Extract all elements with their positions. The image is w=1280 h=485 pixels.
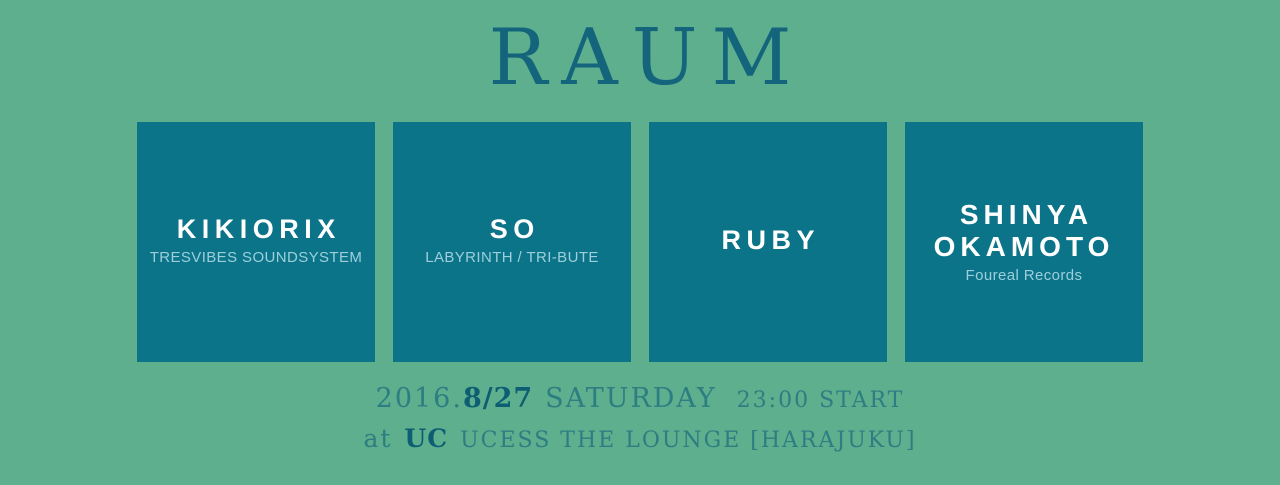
artist-affiliation: TRESVIBES SOUNDSYSTEM [150,248,363,267]
artist-card-content: SO LABYRINTH / TRI-BUTE [393,122,631,362]
artist-card-so: SO LABYRINTH / TRI-BUTE [393,122,631,362]
event-venue-line: atUCUCESS THE LOUNGE [HARAJUKU] [0,420,1280,460]
event-flyer: RAUM KIKIORIX TRESVIBES SOUNDSYSTEM SO L… [0,0,1280,485]
event-date-line: 2016.8/27SATURDAY23:00 START [0,380,1280,420]
event-date: 8/27 [463,383,533,414]
event-info: 2016.8/27SATURDAY23:00 START atUCUCESS T… [0,380,1280,460]
artist-card-kikiorix: KIKIORIX TRESVIBES SOUNDSYSTEM [137,122,375,362]
artist-name-line-1: SHINYA [960,199,1093,230]
venue-prefix: at [363,424,392,453]
event-title: RAUM [0,14,1280,102]
artist-name: KIKIORIX [171,214,341,245]
artist-name-line-2: OKAMOTO [934,231,1115,262]
venue-logo: UC [404,424,448,453]
artist-card-content: RUBY [649,122,887,362]
event-start-time: 23:00 START [737,388,905,413]
artist-card-shinya-okamoto: SHINYA OKAMOTO Foureal Records [905,122,1143,362]
artist-affiliation: Foureal Records [966,266,1083,285]
artist-card-ruby: RUBY [649,122,887,362]
artist-name: RUBY [716,225,820,256]
artist-name: SO [484,214,540,245]
lineup-card-row: KIKIORIX TRESVIBES SOUNDSYSTEM SO LABYRI… [137,122,1143,362]
venue-name: UCESS THE LOUNGE [HARAJUKU] [460,428,916,453]
event-year: 2016. [376,383,463,414]
artist-card-content: KIKIORIX TRESVIBES SOUNDSYSTEM [137,122,375,362]
event-weekday: SATURDAY [545,383,717,414]
artist-affiliation: LABYRINTH / TRI-BUTE [425,248,599,267]
artist-card-content: SHINYA OKAMOTO Foureal Records [905,122,1143,362]
artist-name: SHINYA OKAMOTO [934,199,1115,263]
